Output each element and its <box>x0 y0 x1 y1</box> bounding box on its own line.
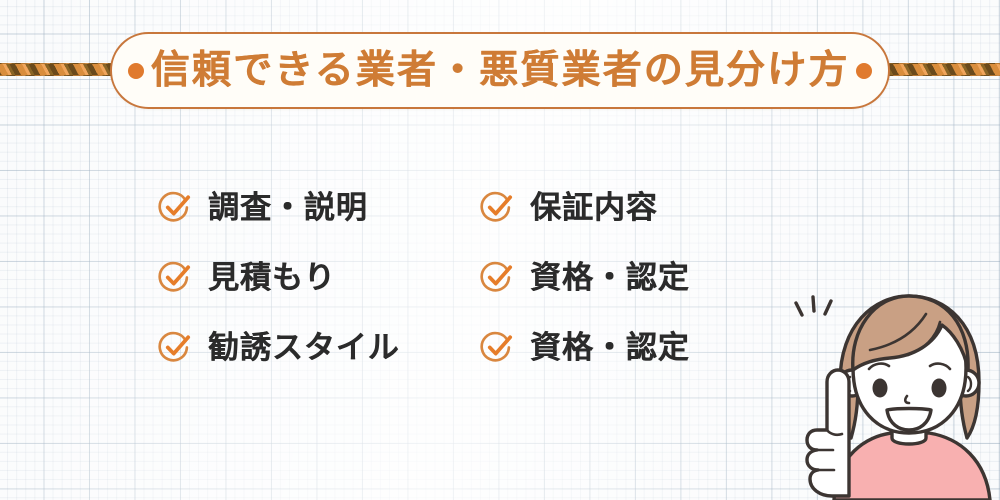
eye-left <box>873 379 888 398</box>
checklist-item-label: 見積もり <box>208 262 336 293</box>
check-circle-icon <box>480 190 514 224</box>
checklist-item-label: 勧誘スタイル <box>208 332 400 363</box>
woman-pointing-up-illustration <box>774 270 1000 500</box>
banner-dot-right-icon <box>856 63 872 79</box>
check-circle-icon <box>480 330 514 364</box>
checklist-item-survey-explanation[interactable]: 調査・説明 <box>158 190 480 224</box>
title-banner: 信頼できる業者・悪質業者の見分け方 <box>110 32 890 109</box>
checklist: 調査・説明 保証内容 見積もり 資格・認定 <box>158 172 778 382</box>
eye-right <box>932 379 947 398</box>
checklist-item-label: 調査・説明 <box>208 192 368 223</box>
checklist-item-solicitation-style[interactable]: 勧誘スタイル <box>158 330 480 364</box>
check-circle-icon <box>158 190 192 224</box>
checklist-item-qualification-certification[interactable]: 資格・認定 <box>480 260 780 294</box>
checklist-item-label: 資格・認定 <box>530 262 690 293</box>
checklist-item-estimate[interactable]: 見積もり <box>158 260 480 294</box>
screenshot-canvas: 信頼できる業者・悪質業者の見分け方 調査・説明 保証内容 見積もり <box>0 0 1000 500</box>
emphasis-stroke-1 <box>796 303 802 315</box>
checklist-item-label: 保証内容 <box>530 192 658 223</box>
emphasis-stroke-2 <box>813 297 814 311</box>
check-circle-icon <box>158 260 192 294</box>
page-title: 信頼できる業者・悪質業者の見分け方 <box>105 51 896 90</box>
checklist-item-warranty-content[interactable]: 保証内容 <box>480 190 780 224</box>
check-circle-icon <box>158 330 192 364</box>
banner-dot-left-icon <box>128 63 144 79</box>
woman-illustration-svg <box>774 270 1000 500</box>
checklist-item-qualification-certification-2[interactable]: 資格・認定 <box>480 330 780 364</box>
emphasis-stroke-3 <box>825 301 831 314</box>
checklist-item-label: 資格・認定 <box>530 332 690 363</box>
check-circle-icon <box>480 260 514 294</box>
